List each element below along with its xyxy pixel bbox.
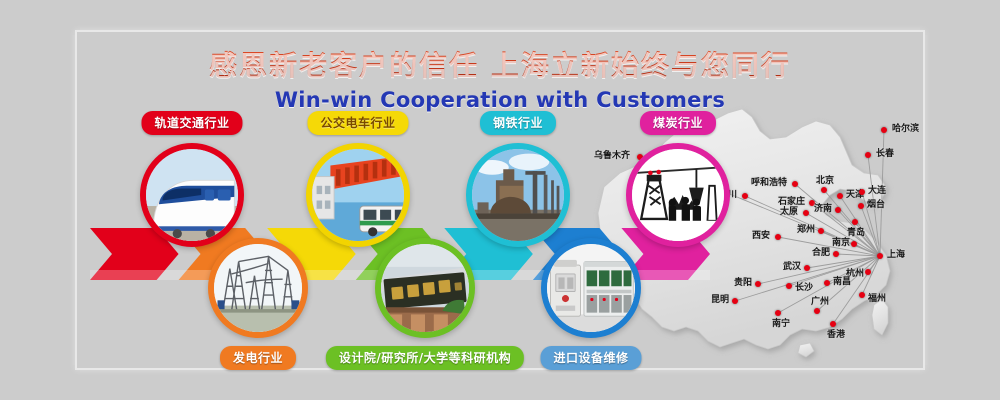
power-grid-icon: [214, 244, 302, 332]
industry-label-pill[interactable]: 设计院/研究所/大学等科研机构: [326, 346, 524, 370]
industry-circle-coal-rig[interactable]: [626, 143, 730, 247]
train-icon: [146, 149, 238, 241]
map-city-label: 太原: [780, 204, 798, 217]
map-city-label: 武汉: [783, 259, 801, 272]
industry-label-pill[interactable]: 进口设备维修: [540, 346, 641, 370]
map-city-label: 香港: [827, 327, 845, 340]
map-city-label: 西安: [752, 228, 770, 241]
map-city-label: 大连: [868, 183, 886, 196]
map-city-dot: [821, 187, 827, 193]
industry-circle-bus[interactable]: [306, 143, 410, 247]
map-city-dot: [858, 203, 864, 209]
map-city-dot: [818, 228, 824, 234]
map-city-dot: [814, 308, 820, 314]
map-city-dot: [859, 292, 865, 298]
switchgear-icon: [547, 244, 635, 332]
map-city-dot: [881, 127, 887, 133]
map-city-label: 南宁: [772, 316, 790, 329]
map-city-label: 福州: [868, 291, 886, 304]
map-city-label: 烟台: [867, 197, 885, 210]
headline-chinese: 感恩新老客户的信任 上海立新始终与您同行: [0, 44, 1000, 84]
banner-root: 哈尔滨长春呼和浩特北京天津大连石家庄济南烟台太原青岛银川西安郑州合肥南京上海武汉…: [0, 0, 1000, 400]
map-city-dot: [837, 193, 843, 199]
map-city-label: 郑州: [797, 222, 815, 235]
map-city-dot: [835, 207, 841, 213]
industry-label-pill[interactable]: 发电行业: [220, 346, 296, 370]
industry-label-pill[interactable]: 煤炭行业: [640, 111, 716, 135]
map-city-dot: [755, 281, 761, 287]
map-city-dot: [824, 280, 830, 286]
map-city-label: 南京: [832, 235, 850, 248]
map-city-dot: [804, 265, 810, 271]
map-city-label: 长春: [876, 146, 894, 159]
map-city-label: 长沙: [795, 280, 813, 293]
map-city-dot: [775, 234, 781, 240]
coal-rig-icon: [632, 149, 724, 241]
industry-circle-steel-mill[interactable]: [466, 143, 570, 247]
map-city-label: 贵阳: [734, 275, 752, 288]
industry-label-pill[interactable]: 轨道交通行业: [141, 111, 242, 135]
map-city-dot: [833, 251, 839, 257]
map-city-label: 南昌: [833, 274, 851, 287]
headline-block: 感恩新老客户的信任 上海立新始终与您同行 Win-win Cooperation…: [0, 44, 1000, 112]
steel-mill-icon: [472, 149, 564, 241]
industry-label-pill[interactable]: 公交电车行业: [307, 111, 408, 135]
map-city-label: 呼和浩特: [751, 175, 787, 188]
map-city-dot: [865, 152, 871, 158]
map-city-dot: [865, 269, 871, 275]
map-city-label: 乌鲁木齐: [594, 148, 630, 161]
industry-circle-power-grid[interactable]: [208, 238, 308, 338]
industry-label-pill[interactable]: 钢铁行业: [480, 111, 556, 135]
industry-circle-train[interactable]: [140, 143, 244, 247]
map-city-dot: [851, 241, 857, 247]
map-city-label: 上海: [887, 247, 905, 260]
map-city-dot: [803, 210, 809, 216]
map-city-dot: [792, 181, 798, 187]
map-city-dot: [877, 253, 883, 259]
map-city-label: 济南: [814, 201, 832, 214]
map-city-dot: [732, 298, 738, 304]
industry-circle-university[interactable]: [375, 238, 475, 338]
map-city-dot: [859, 189, 865, 195]
map-city-dot: [742, 193, 748, 199]
map-city-label: 合肥: [812, 245, 830, 258]
map-city-label: 哈尔滨: [892, 121, 919, 134]
map-city-dot: [786, 283, 792, 289]
headline-english: Win-win Cooperation with Customers: [0, 88, 1000, 112]
map-city-label: 北京: [816, 173, 834, 186]
university-icon: [381, 244, 469, 332]
industry-circle-switchgear[interactable]: [541, 238, 641, 338]
map-city-label: 广州: [811, 294, 829, 307]
map-city-label: 昆明: [711, 292, 729, 305]
bus-icon: [312, 149, 404, 241]
